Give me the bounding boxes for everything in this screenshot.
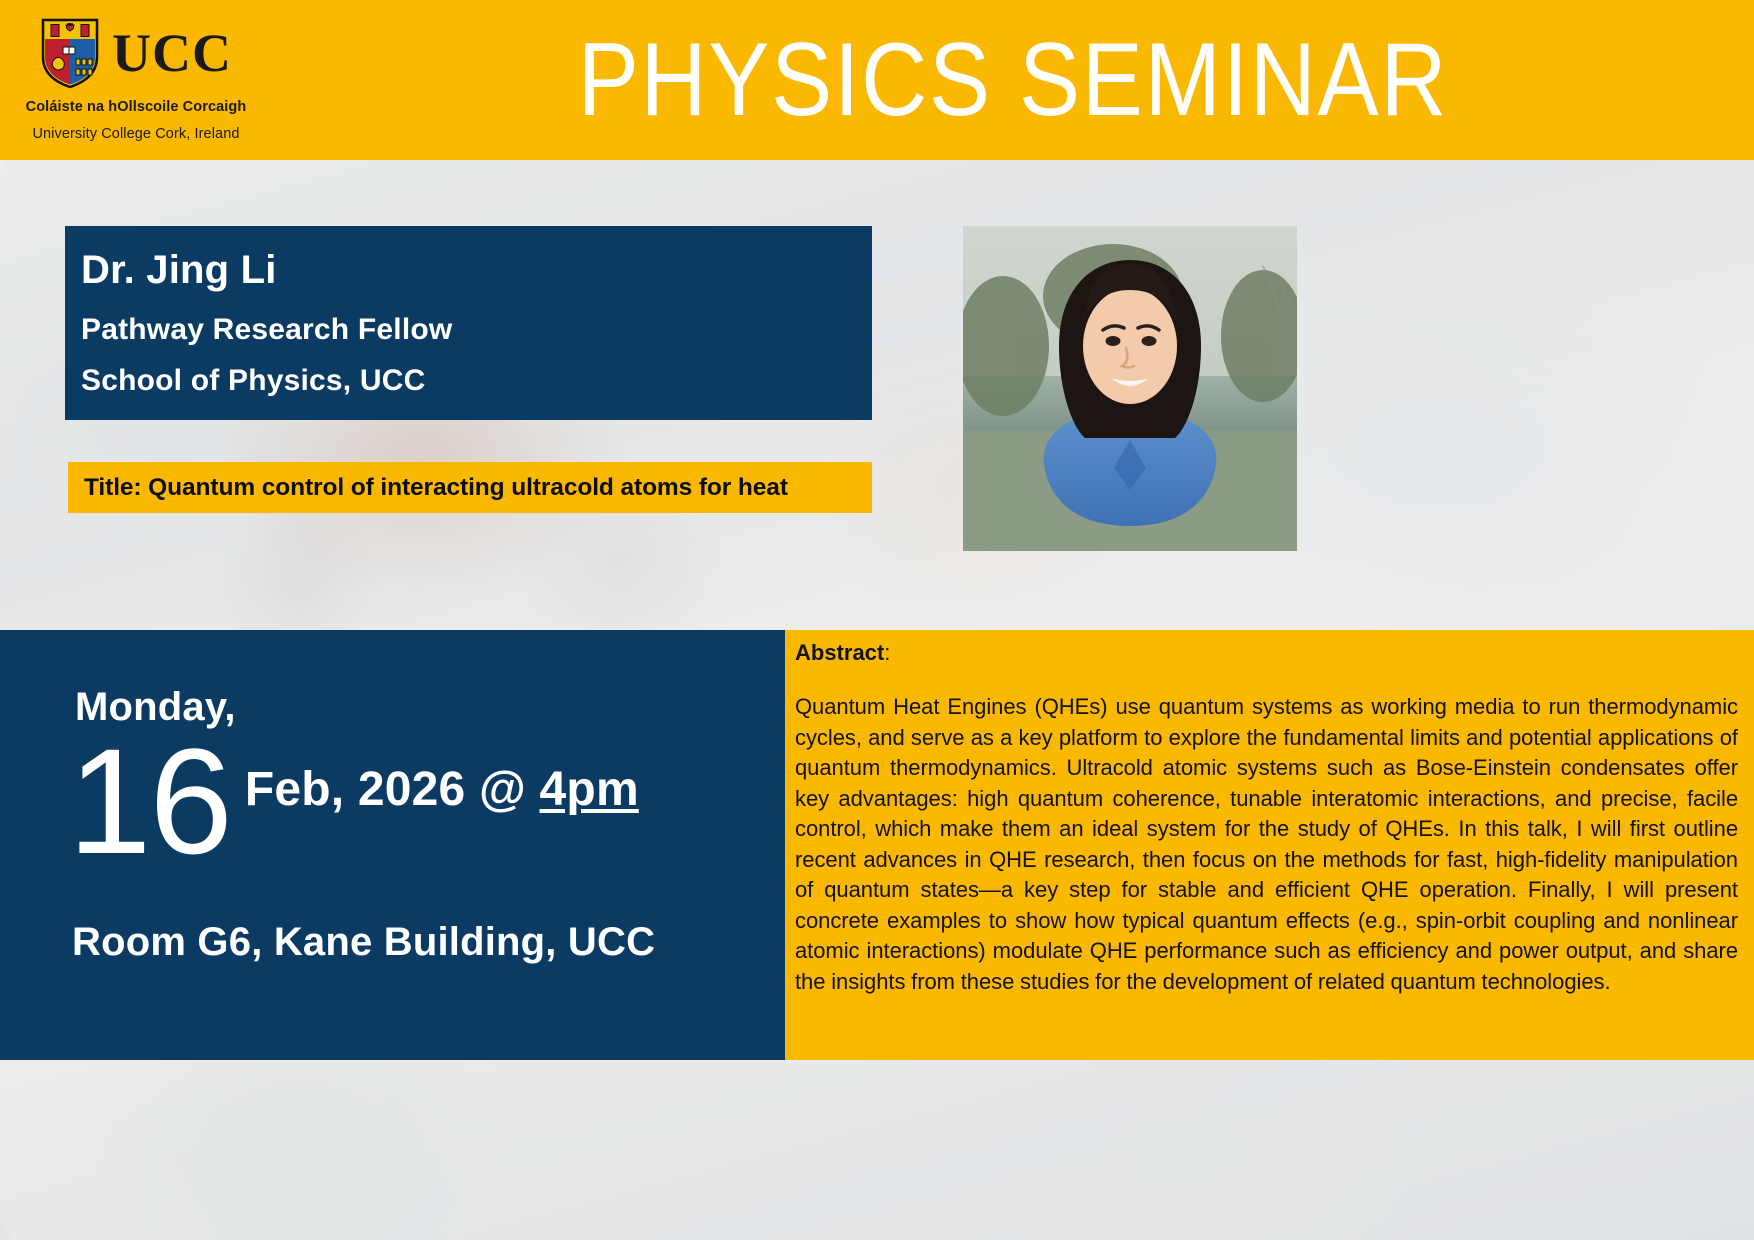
event-date-row: 16 Feb, 2026 @ 4pm bbox=[68, 735, 639, 867]
speaker-role: Pathway Research Fellow bbox=[81, 313, 872, 347]
ucc-english-name: University College Cork, Ireland bbox=[32, 126, 239, 143]
event-time: 4pm bbox=[540, 763, 639, 816]
event-day-number: 16 bbox=[68, 735, 231, 867]
abstract-label-word: Abstract bbox=[795, 640, 884, 665]
speaker-affiliation: School of Physics, UCC bbox=[81, 364, 872, 398]
ucc-acronym: UCC bbox=[112, 29, 232, 78]
ucc-irish-name: Coláiste na hOllscoile Corcaigh bbox=[26, 99, 247, 116]
ucc-logo: UCC Coláiste na hOllscoile Corcaigh Univ… bbox=[0, 0, 272, 160]
speaker-photo bbox=[963, 226, 1297, 551]
event-details-panel: Monday, 16 Feb, 2026 @ 4pm Room G6, Kane… bbox=[0, 630, 785, 1060]
abstract-body: Quantum Heat Engines (QHEs) use quantum … bbox=[795, 692, 1738, 997]
poster-title: PHYSICS SEMINAR bbox=[361, 0, 1665, 160]
ucc-crest-icon bbox=[40, 17, 100, 89]
event-location: Room G6, Kane Building, UCC bbox=[72, 920, 655, 965]
poster-header: UCC Coláiste na hOllscoile Corcaigh Univ… bbox=[0, 0, 1754, 160]
talk-title-text: Title: Quantum control of interacting ul… bbox=[84, 474, 788, 502]
speaker-info-box: Dr. Jing Li Pathway Research Fellow Scho… bbox=[65, 226, 872, 420]
seminar-poster: UCC Coláiste na hOllscoile Corcaigh Univ… bbox=[0, 0, 1754, 1240]
abstract-label: Abstract: bbox=[795, 640, 1738, 666]
talk-title-strip: Title: Quantum control of interacting ul… bbox=[68, 462, 872, 513]
poster-title-text: PHYSICS SEMINAR bbox=[578, 21, 1449, 140]
event-month-year-time: Feb, 2026 @ 4pm bbox=[245, 762, 639, 817]
abstract-panel: Abstract: Quantum Heat Engines (QHEs) us… bbox=[785, 630, 1754, 1060]
abstract-label-colon: : bbox=[884, 640, 890, 665]
event-month-year: Feb, 2026 @ bbox=[245, 763, 540, 816]
speaker-name: Dr. Jing Li bbox=[81, 248, 872, 293]
